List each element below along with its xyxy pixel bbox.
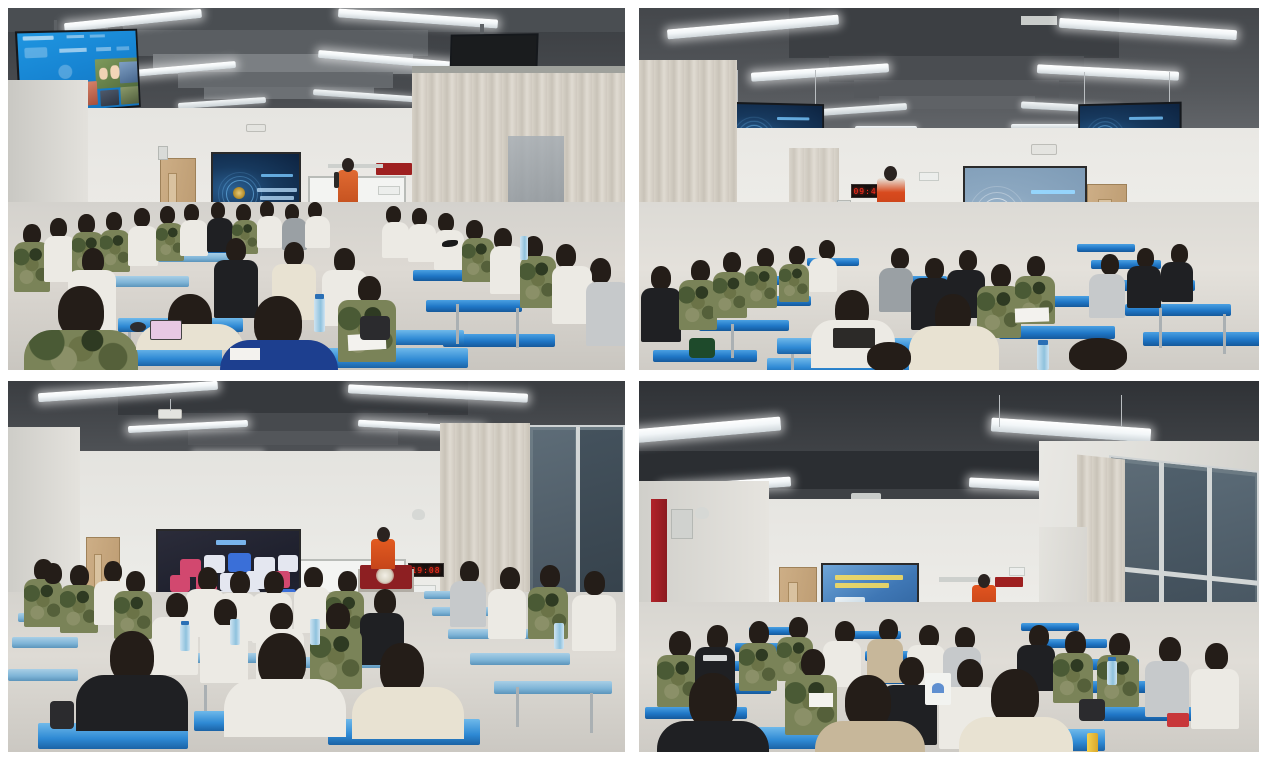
audience-head <box>134 208 150 227</box>
desk-leg <box>590 693 593 733</box>
audience-head <box>106 212 122 231</box>
audience-head <box>358 276 381 303</box>
photo-panel-top-right[interactable]: 09:48 <box>639 8 1259 370</box>
wall-speaker <box>158 146 168 160</box>
tote-bag <box>925 673 951 705</box>
audience-head <box>749 621 769 645</box>
student-desk <box>494 681 612 694</box>
audience-head <box>211 202 225 219</box>
audience-torso <box>450 581 486 627</box>
audience-torso <box>305 216 330 248</box>
tv-thumbnail[interactable] <box>119 61 139 83</box>
audience-torso <box>572 595 616 651</box>
audience-torso <box>739 643 777 691</box>
audience-head <box>1027 256 1045 277</box>
student-desk <box>470 653 570 665</box>
ac-vent <box>378 186 400 195</box>
audience-torso <box>100 230 130 272</box>
audience-head <box>1159 637 1181 663</box>
tv-watermark-icon <box>58 64 73 79</box>
water-bottle <box>520 236 528 260</box>
photo-collage: 09:48 <box>0 0 1267 760</box>
audience-head <box>126 571 145 593</box>
yellow-bottle <box>1087 733 1098 752</box>
tablet-device[interactable] <box>150 320 182 340</box>
audience-head <box>160 206 175 224</box>
bottle-cap <box>1038 340 1048 345</box>
ceiling-vent-icon <box>1021 16 1057 25</box>
security-camera-icon <box>695 507 709 519</box>
audience-head <box>540 565 560 588</box>
audience-head <box>959 250 977 271</box>
audience-head <box>819 240 835 259</box>
backpack <box>50 701 74 729</box>
tote-bag-logo-icon <box>932 683 944 693</box>
classroom-scene-1 <box>8 8 625 370</box>
bottle-cap <box>181 621 189 625</box>
audience-head <box>374 589 396 615</box>
bottle-cap <box>315 294 324 299</box>
light-hanger <box>1121 395 1122 427</box>
audience-head <box>584 571 605 595</box>
tv-thumbnail[interactable] <box>120 86 140 105</box>
tv-nav-item[interactable] <box>59 48 87 53</box>
shirt-print-icon <box>703 655 727 661</box>
audience-head <box>789 617 808 639</box>
photo-panel-bottom-right[interactable] <box>639 381 1259 752</box>
student-desk <box>1077 244 1135 252</box>
backpack <box>1079 699 1105 721</box>
water-bottle <box>314 298 325 332</box>
audience-torso <box>24 579 62 627</box>
shirt-logo-icon <box>442 240 458 247</box>
speaker-body <box>371 539 395 569</box>
speaker-head <box>342 158 354 172</box>
desk-leg <box>456 304 459 344</box>
audience-head <box>50 218 67 238</box>
desk-leg <box>791 354 794 370</box>
audience-head <box>304 567 323 589</box>
tv-nav-item[interactable] <box>116 46 129 50</box>
classroom-scene-2: 09:48 <box>639 8 1259 370</box>
audience-torso <box>809 258 837 292</box>
red-item <box>1167 713 1189 727</box>
curtain-rail <box>412 66 625 73</box>
wall-trim <box>328 164 383 168</box>
photo-panel-bottom-left[interactable]: 19:08 <box>8 381 625 752</box>
tv-nav-item[interactable] <box>90 34 105 37</box>
foreground-torso <box>815 721 925 752</box>
audience-torso <box>1145 661 1189 717</box>
ceiling-duct <box>188 431 398 445</box>
paper-handout <box>230 348 260 360</box>
security-camera-icon <box>412 509 425 520</box>
light-hanger <box>999 395 1000 427</box>
photo-panel-top-left[interactable] <box>8 8 625 370</box>
audience-torso <box>679 280 717 330</box>
water-bottle <box>1037 344 1049 370</box>
ceiling-duct <box>128 30 428 56</box>
audience-head <box>1171 244 1188 264</box>
speaker-body <box>338 170 358 206</box>
hex-node <box>228 553 251 572</box>
audience-torso <box>586 282 625 346</box>
audience-head <box>590 258 611 284</box>
hex-node <box>278 555 298 572</box>
speaker-head <box>884 166 897 181</box>
classroom-scene-4 <box>639 381 1259 752</box>
audience-torso <box>257 216 282 248</box>
audience-torso <box>408 224 436 262</box>
desk-leg <box>204 685 207 711</box>
slide-heading-line <box>835 575 903 580</box>
audience-head <box>757 248 774 268</box>
audience-torso <box>745 266 777 308</box>
audience-torso <box>128 226 158 266</box>
wall-speaker <box>671 509 693 539</box>
audience-head <box>925 258 944 280</box>
audience-head <box>789 246 805 265</box>
audience-torso <box>152 617 198 675</box>
slide-heading-line <box>835 583 889 588</box>
hex-node <box>170 575 190 592</box>
audience-torso <box>1127 266 1161 308</box>
audience-head <box>44 563 62 584</box>
ceiling-duct <box>178 72 393 88</box>
audience-torso <box>779 264 809 302</box>
ceiling-projector <box>246 124 266 132</box>
tv-thumbnail[interactable] <box>100 89 119 106</box>
audience-torso <box>490 246 524 294</box>
classroom-scene-3: 19:08 <box>8 381 625 752</box>
tv-sidebar-item[interactable] <box>24 47 47 58</box>
ceiling-projector <box>1031 144 1057 155</box>
speaker-head <box>978 574 990 588</box>
audience-head <box>460 561 479 583</box>
audience-torso <box>434 230 464 270</box>
audience-head <box>1101 254 1119 275</box>
foreground-torso <box>24 330 138 370</box>
audience-head <box>991 264 1011 288</box>
foreground-head <box>1069 338 1127 370</box>
desk-leg <box>1159 308 1162 348</box>
audience-torso <box>1161 262 1193 302</box>
audience-torso <box>1089 274 1125 318</box>
tv-hanger <box>1169 72 1170 106</box>
audience-head <box>166 593 188 619</box>
student-desk <box>8 669 78 681</box>
audience-head <box>264 571 284 595</box>
tv-hanger <box>815 70 816 106</box>
backpack <box>689 338 715 358</box>
audience-torso <box>1053 653 1093 703</box>
foreground-torso <box>76 675 188 731</box>
audience-head <box>326 603 350 631</box>
ac-vent <box>1009 567 1025 576</box>
audience-torso <box>60 585 98 633</box>
audience-torso <box>488 589 526 639</box>
audience-head <box>723 252 741 273</box>
audience-torso <box>1191 669 1239 729</box>
tv-nav-item[interactable] <box>66 35 84 38</box>
water-bottle <box>230 619 240 645</box>
audience-head <box>899 657 924 686</box>
audience-head <box>801 649 825 677</box>
audience-head <box>466 220 483 240</box>
foreground-torso <box>352 687 464 739</box>
microphone-icon <box>334 172 339 188</box>
foreground-torso <box>657 721 769 752</box>
speaker-head <box>377 527 390 542</box>
foreground-torso <box>959 717 1073 752</box>
audience-head <box>669 631 691 657</box>
audience-head <box>270 603 293 630</box>
audience-head <box>879 619 898 641</box>
audience-head <box>284 242 304 266</box>
tv-hanger <box>1084 72 1085 106</box>
water-bottle <box>180 625 190 651</box>
projector-hanger <box>170 399 171 411</box>
water-bottle <box>1107 661 1117 685</box>
audience-head <box>230 571 250 595</box>
audience-head <box>104 561 122 582</box>
audience-head <box>957 659 983 689</box>
paper-handout <box>809 693 833 707</box>
audience-torso <box>641 288 681 342</box>
student-desk <box>426 300 522 312</box>
audience-head <box>651 266 671 290</box>
audience-head <box>891 248 909 269</box>
audience-head <box>500 567 520 590</box>
foreground-head <box>867 342 911 370</box>
audience-head <box>1137 248 1154 268</box>
foreground-torso <box>909 326 999 370</box>
podium-emblem <box>376 567 394 584</box>
slide-title <box>216 540 246 545</box>
mouse-icon <box>130 322 146 332</box>
tv-hanger <box>737 70 738 106</box>
foreground-torso <box>224 679 346 737</box>
tv-logo <box>23 36 54 41</box>
audience-head <box>70 565 89 587</box>
audience-head <box>691 260 710 282</box>
ac-vent <box>919 172 939 181</box>
exit-sign <box>995 577 1023 587</box>
water-bottle <box>310 619 320 645</box>
audience-torso <box>200 625 248 683</box>
audience-head <box>198 567 218 591</box>
ceiling-duct <box>789 8 1119 58</box>
desk-leg <box>516 687 519 727</box>
audience-head <box>226 238 246 262</box>
audience-torso <box>382 222 409 258</box>
bottle-cap <box>1108 657 1116 661</box>
backpack <box>360 316 390 340</box>
desk-leg <box>516 308 519 348</box>
tv-nav-item[interactable] <box>96 47 111 51</box>
audience-torso <box>180 220 208 256</box>
desk-leg <box>1223 314 1226 354</box>
audience-head <box>338 571 357 593</box>
shirt-graphic-icon <box>833 328 875 348</box>
desk-leg <box>731 324 734 358</box>
audience-torso <box>520 256 556 308</box>
water-bottle <box>554 623 564 649</box>
notebook <box>1015 307 1049 322</box>
audience-head <box>78 214 95 234</box>
audience-head <box>556 244 576 268</box>
audience-torso <box>879 268 913 312</box>
student-desk <box>12 637 78 648</box>
audience-torso <box>214 260 258 318</box>
audience-torso <box>713 272 747 318</box>
audience-head <box>1205 643 1228 670</box>
